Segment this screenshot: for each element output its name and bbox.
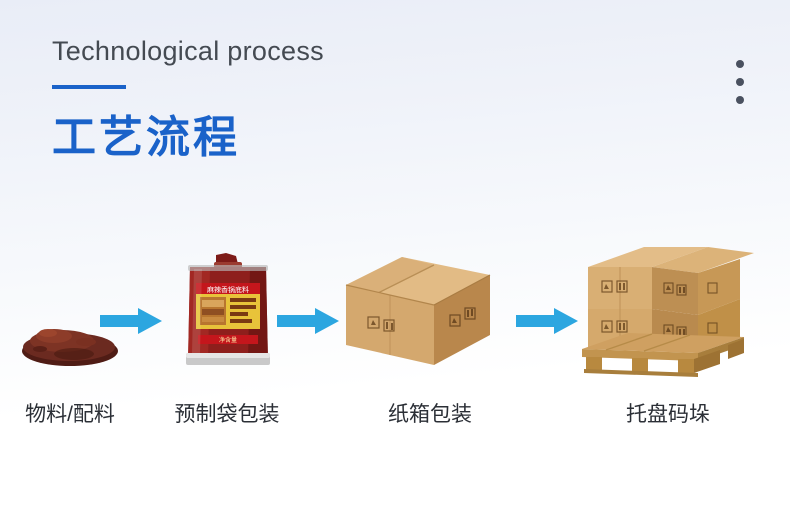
dot-3: [736, 96, 744, 104]
caption-carton-packing: 纸箱包装: [388, 398, 472, 428]
flow-arrow-1: [100, 308, 162, 334]
step-icon-pouch-packing: 麻辣香锅底料 净含量: [176, 253, 280, 373]
header-block: Technological process 工艺流程: [52, 36, 324, 165]
dot-2: [736, 78, 744, 86]
process-flow-row: 麻辣香锅底料 净含量: [0, 232, 790, 377]
arrow-right-icon: [100, 308, 162, 334]
arrow-right-icon: [277, 308, 339, 334]
vertical-ellipsis-icon[interactable]: [736, 60, 744, 104]
svg-text:净含量: 净含量: [219, 336, 237, 344]
flow-arrow-2: [277, 308, 339, 334]
process-captions-row: 物料/配料 预制袋包装 纸箱包装 托盘码垛: [0, 398, 790, 438]
caption-material: 物料/配料: [25, 398, 115, 428]
retort-pouch-icon: 麻辣香锅底料 净含量: [176, 253, 280, 373]
title-underline-rule: [52, 85, 126, 89]
page-title-chinese: 工艺流程: [52, 101, 324, 165]
svg-text:麻辣香锅底料: 麻辣香锅底料: [207, 285, 249, 294]
caption-palletizing: 托盘码垛: [626, 398, 710, 428]
caption-pouch-packing: 预制袋包装: [175, 398, 280, 428]
step-icon-carton-packing: [338, 253, 498, 371]
slide-canvas: Technological process 工艺流程: [0, 0, 790, 514]
dot-1: [736, 60, 744, 68]
pallet-stack-icon: [568, 237, 768, 377]
step-icon-palletizing: [568, 237, 768, 377]
page-title-english: Technological process: [52, 36, 324, 67]
carton-box-icon: [338, 253, 498, 371]
